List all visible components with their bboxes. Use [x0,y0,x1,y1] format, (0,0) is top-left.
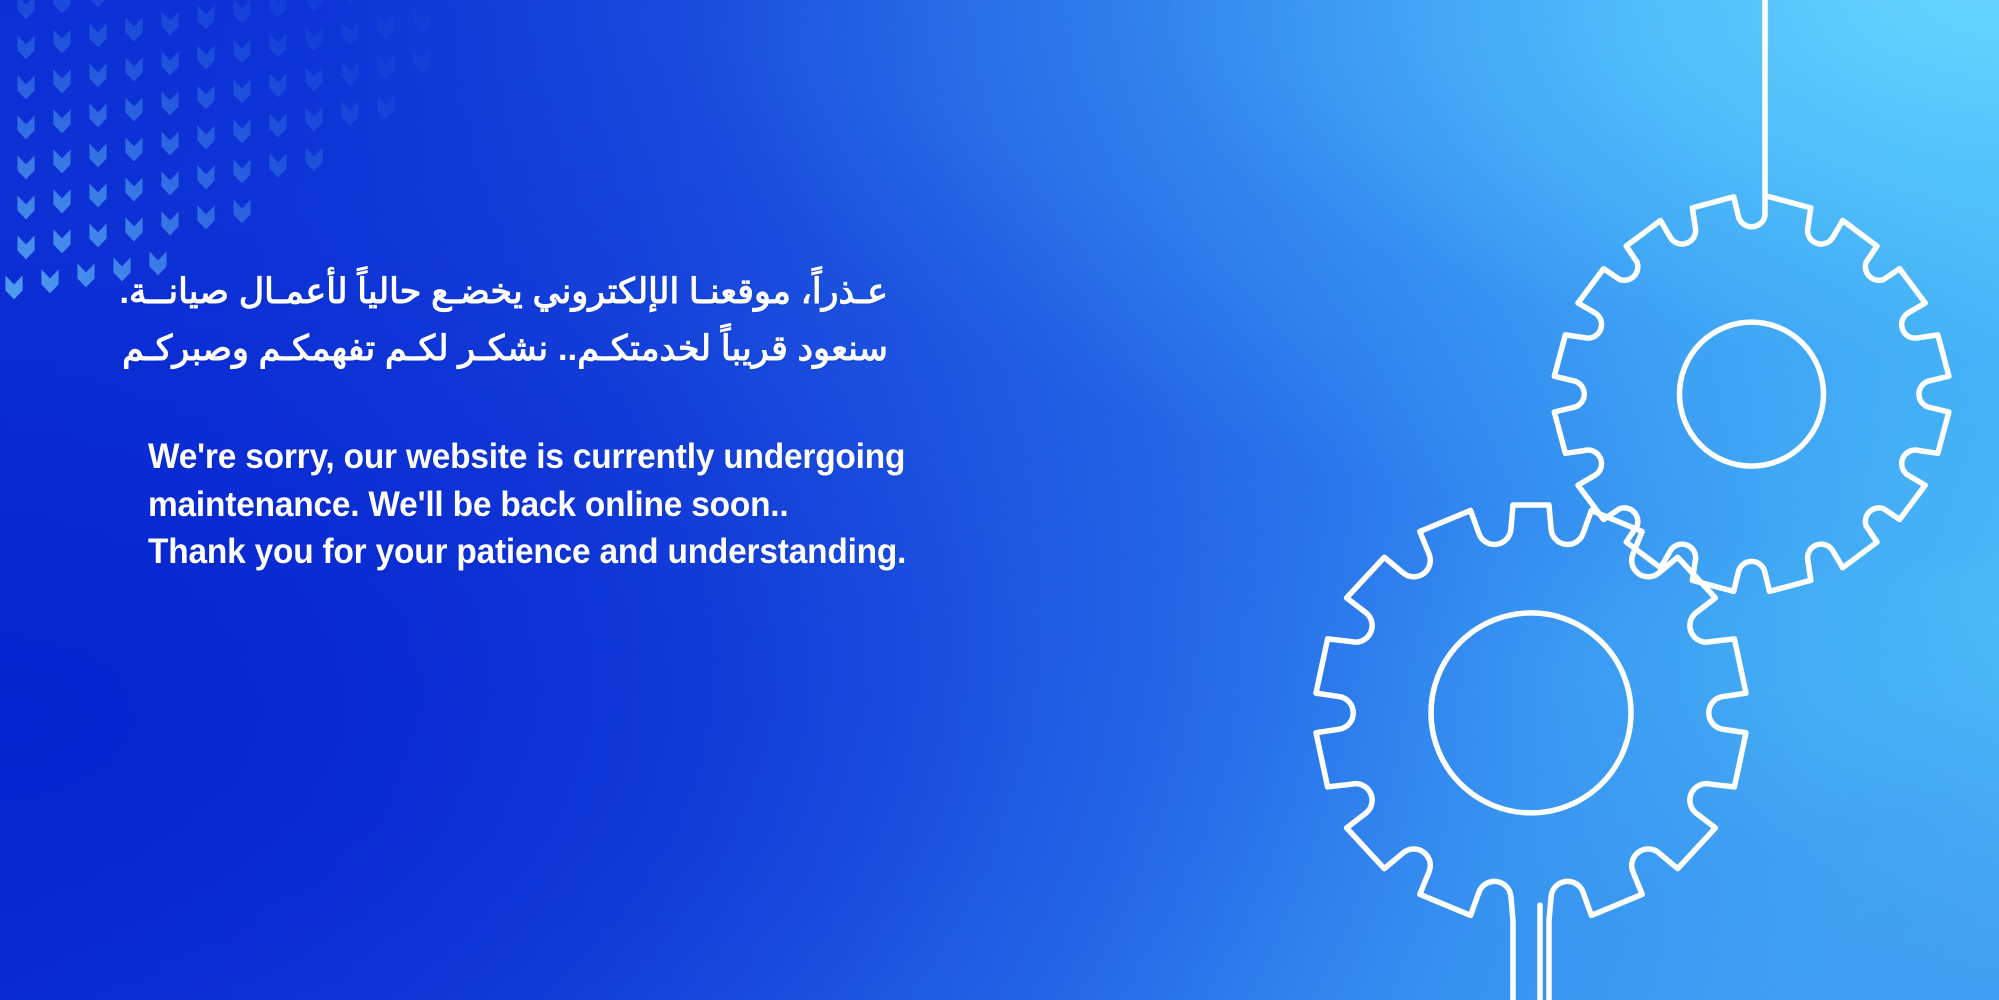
english-message: We're sorry, our website is currently un… [148,433,931,575]
english-message-line-2: maintenance. We'll be back online soon.. [148,481,931,528]
english-message-line-1: We're sorry, our website is currently un… [148,433,931,480]
maintenance-page: عـذراً، موقعنـا الإلكتروني يخضـع حالياً … [0,0,1999,1000]
maintenance-message: عـذراً، موقعنـا الإلكتروني يخضـع حالياً … [148,264,1148,575]
arabic-message: عـذراً، موقعنـا الإلكتروني يخضـع حالياً … [148,264,888,377]
arabic-message-line-1: عـذراً، موقعنـا الإلكتروني يخضـع حالياً … [148,264,888,321]
english-message-line-3: Thank you for your patience and understa… [148,528,931,575]
arabic-message-line-2: سنعود قريباً لخدمتكـم.. نشكـر لكـم تفهمك… [148,321,888,378]
